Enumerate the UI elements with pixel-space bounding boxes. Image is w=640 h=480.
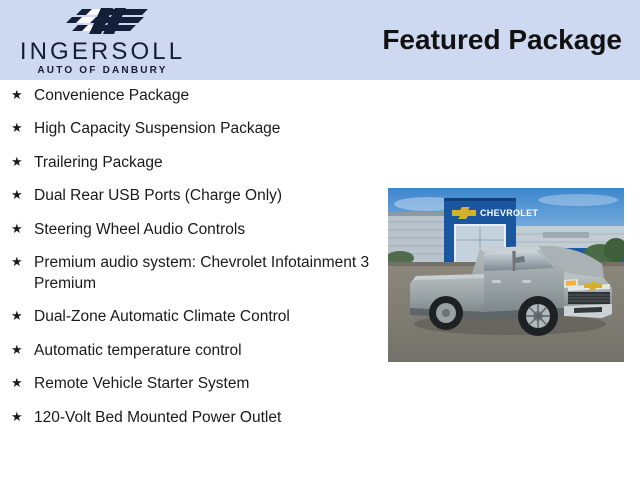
featured-package-list: ★ Convenience Package ★ High Capacity Su… — [8, 86, 380, 441]
dealer-brand-block: INGERSOLL AUTO OF DANBURY — [0, 2, 205, 80]
list-item-label: 120-Volt Bed Mounted Power Outlet — [34, 409, 281, 426]
list-item: ★ Trailering Package — [8, 153, 380, 174]
star-bullet-icon: ★ — [11, 186, 23, 204]
list-item-label: Premium audio system: Chevrolet Infotain… — [34, 254, 369, 292]
dealer-name: INGERSOLL — [0, 40, 205, 64]
list-item: ★ High Capacity Suspension Package — [8, 119, 380, 140]
ingersoll-winged-emblem-icon — [52, 5, 156, 37]
page-title: Featured Package — [382, 24, 622, 56]
star-bullet-icon: ★ — [11, 153, 23, 171]
svg-text:CHEVROLET: CHEVROLET — [480, 208, 538, 218]
star-bullet-icon: ★ — [11, 408, 23, 426]
star-bullet-icon: ★ — [11, 86, 23, 104]
list-item-label: Dual-Zone Automatic Climate Control — [34, 308, 290, 325]
list-item-label: Convenience Package — [34, 87, 189, 104]
page-header-band: INGERSOLL AUTO OF DANBURY Featured Packa… — [0, 0, 640, 80]
list-item: ★ Steering Wheel Audio Controls — [8, 220, 380, 241]
star-bullet-icon: ★ — [11, 374, 23, 392]
list-item-label: Steering Wheel Audio Controls — [34, 221, 245, 238]
list-item-label: Automatic temperature control — [34, 342, 242, 359]
list-item: ★ Dual-Zone Automatic Climate Control — [8, 307, 380, 328]
list-item-label: High Capacity Suspension Package — [34, 120, 280, 137]
star-bullet-icon: ★ — [11, 220, 23, 238]
list-item-label: Remote Vehicle Starter System — [34, 375, 249, 392]
list-item: ★ Automatic temperature control — [8, 341, 380, 362]
dealer-subtitle: AUTO OF DANBURY — [0, 66, 205, 76]
list-item: ★ Remote Vehicle Starter System — [8, 374, 380, 395]
star-bullet-icon: ★ — [11, 253, 23, 271]
vehicle-photo: CHEVROLET — [388, 188, 624, 362]
star-bullet-icon: ★ — [11, 119, 23, 137]
list-item: ★ Premium audio system: Chevrolet Infota… — [8, 253, 380, 295]
list-item: ★ 120-Volt Bed Mounted Power Outlet — [8, 408, 380, 429]
star-bullet-icon: ★ — [11, 307, 23, 325]
list-item: ★ Dual Rear USB Ports (Charge Only) — [8, 186, 380, 207]
list-item: ★ Convenience Package — [8, 86, 380, 107]
list-item-label: Dual Rear USB Ports (Charge Only) — [34, 187, 282, 204]
star-bullet-icon: ★ — [11, 341, 23, 359]
list-item-label: Trailering Package — [34, 154, 163, 171]
